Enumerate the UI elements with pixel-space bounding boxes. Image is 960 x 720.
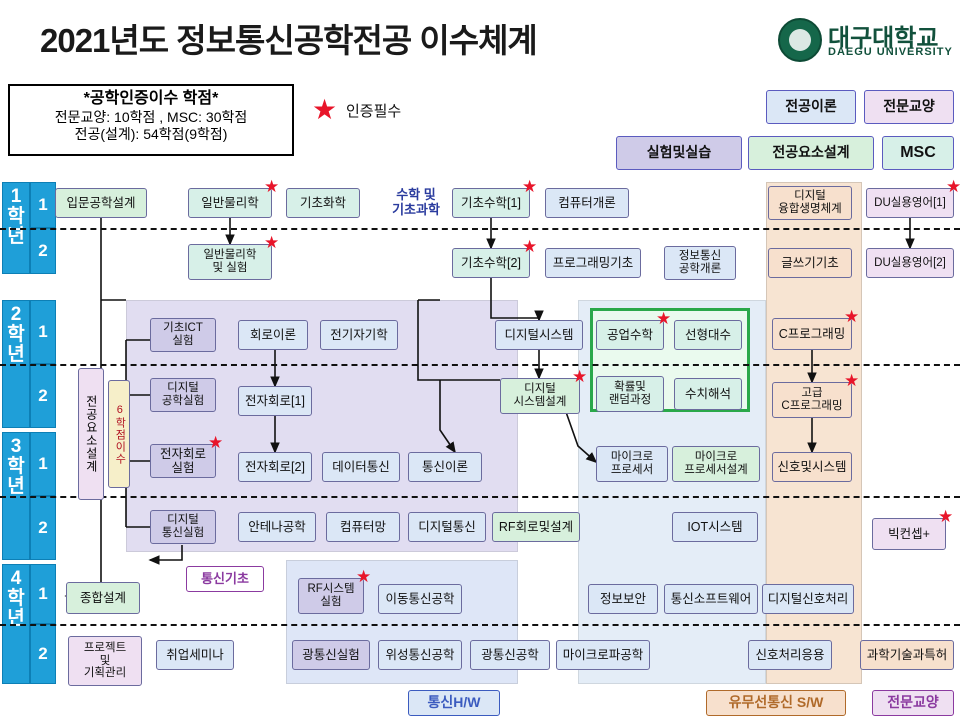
group-label-math-science: 수학 및 기초과학 bbox=[376, 186, 456, 220]
course-box[interactable]: RF시스템 실험 bbox=[298, 578, 364, 614]
course-box[interactable]: 신호및시스템 bbox=[772, 452, 852, 482]
row-divider-2 bbox=[0, 364, 960, 366]
course-box[interactable]: 프로젝트 및 기획관리 bbox=[68, 636, 142, 686]
semester-3-1: 1 bbox=[30, 432, 56, 496]
course-box[interactable]: 기초화학 bbox=[286, 188, 360, 218]
category-chip-liberal-arts[interactable]: 전문교양 bbox=[864, 90, 954, 124]
course-box[interactable]: RF회로및설계 bbox=[492, 512, 580, 542]
course-box[interactable]: 빅컨셉+ bbox=[872, 518, 946, 550]
university-logo: 대구대학교 DAEGU UNIVERSITY bbox=[778, 16, 954, 66]
course-box[interactable]: 고급 C프로그래밍 bbox=[772, 382, 852, 418]
course-box[interactable]: DU실용영어[1] bbox=[866, 188, 954, 218]
category-chip-major-element-design[interactable]: 전공요소설계 bbox=[748, 136, 874, 170]
course-box[interactable]: 확률및 랜덤과정 bbox=[596, 376, 664, 412]
course-box[interactable]: IOT시스템 bbox=[672, 512, 758, 542]
vlabel-major-element-design: 전공요소설계 bbox=[78, 368, 104, 500]
semester-2-2: 2 bbox=[30, 364, 56, 428]
row-divider-1 bbox=[0, 228, 960, 230]
course-box[interactable]: 디지털 통신실험 bbox=[150, 510, 216, 544]
semester-1-2: 2 bbox=[30, 228, 56, 274]
row-divider-4 bbox=[0, 624, 960, 626]
course-box[interactable]: 전자회로[1] bbox=[238, 386, 312, 416]
vlabel-6credits: 6학점이수 bbox=[108, 380, 130, 488]
course-box[interactable]: C프로그래밍 bbox=[772, 318, 852, 350]
footer-tag: 전문교양 bbox=[872, 690, 954, 716]
course-box[interactable]: 정보통신 공학개론 bbox=[664, 246, 736, 280]
course-box[interactable]: 수치해석 bbox=[674, 378, 742, 410]
group-label-comm-basic: 통신기초 bbox=[186, 566, 264, 592]
course-box[interactable]: 프로그래밍기초 bbox=[545, 248, 641, 278]
footer-tag: 유무선통신 S/W bbox=[706, 690, 846, 716]
semester-2-1: 1 bbox=[30, 300, 56, 364]
course-box[interactable]: 위성통신공학 bbox=[378, 640, 462, 670]
logo-text-english: DAEGU UNIVERSITY bbox=[828, 46, 953, 58]
cert-line-2: 전문교양: 10학점 , MSC: 30학점 bbox=[10, 109, 292, 126]
category-chip-msc[interactable]: MSC bbox=[882, 136, 954, 170]
university-seal-icon bbox=[778, 18, 822, 62]
course-box[interactable]: 광통신실험 bbox=[292, 640, 370, 670]
course-box[interactable]: 전자회로[2] bbox=[238, 452, 312, 482]
course-box[interactable]: 과학기술과특허 bbox=[860, 640, 954, 670]
star-icon: ★ bbox=[312, 96, 337, 124]
course-box[interactable]: 정보보안 bbox=[588, 584, 658, 614]
course-box[interactable]: 글쓰기기초 bbox=[768, 248, 852, 278]
course-box[interactable]: 기초수학[2] bbox=[452, 248, 530, 278]
footer-tag: 통신H/W bbox=[408, 690, 500, 716]
course-box[interactable]: 신호처리응용 bbox=[748, 640, 832, 670]
course-box[interactable]: 회로이론 bbox=[238, 320, 308, 350]
course-box[interactable]: 이동통신공학 bbox=[378, 584, 462, 614]
course-box[interactable]: 디지털시스템 bbox=[495, 320, 583, 350]
course-box[interactable]: 통신소프트웨어 bbox=[664, 584, 758, 614]
course-box[interactable]: 기초수학[1] bbox=[452, 188, 530, 218]
course-box[interactable]: DU실용영어[2] bbox=[866, 248, 954, 278]
course-box[interactable]: 마이크로파공학 bbox=[556, 640, 650, 670]
semester-4-1: 1 bbox=[30, 564, 56, 624]
course-box[interactable]: 디지털 융합생명체계 bbox=[768, 186, 852, 220]
course-box[interactable]: 디지털 시스템설계 bbox=[500, 378, 580, 414]
course-box[interactable]: 취업세미나 bbox=[156, 640, 234, 670]
semester-1-1: 1 bbox=[30, 182, 56, 228]
course-box[interactable]: 전자회로 실험 bbox=[150, 444, 216, 478]
page-title: 2021년도 정보통신공학전공 이수체계 bbox=[40, 14, 760, 62]
course-box[interactable]: 컴퓨터개론 bbox=[545, 188, 629, 218]
category-chip-major-theory[interactable]: 전공이론 bbox=[766, 90, 856, 124]
course-box[interactable]: 선형대수 bbox=[674, 320, 742, 350]
course-box[interactable]: 마이크로 프로세서 bbox=[596, 446, 668, 482]
course-box[interactable]: 데이터통신 bbox=[322, 452, 400, 482]
cert-title: *공학인증이수 학점* bbox=[10, 89, 292, 109]
semester-4-2: 2 bbox=[30, 624, 56, 684]
course-box[interactable]: 종합설계 bbox=[66, 582, 140, 614]
course-box[interactable]: 디지털통신 bbox=[408, 512, 486, 542]
cert-line-3: 전공(설계): 54학점(9학점) bbox=[10, 126, 292, 143]
course-box[interactable]: 마이크로 프로세서설계 bbox=[672, 446, 760, 482]
course-box[interactable]: 광통신공학 bbox=[470, 640, 550, 670]
course-box[interactable]: 안테나공학 bbox=[238, 512, 316, 542]
course-box[interactable]: 기초ICT 실험 bbox=[150, 318, 216, 352]
course-box[interactable]: 일반물리학 및 실험 bbox=[188, 244, 272, 280]
category-chip-lab-practice[interactable]: 실험및실습 bbox=[616, 136, 742, 170]
course-box[interactable]: 일반물리학 bbox=[188, 188, 272, 218]
course-box[interactable]: 전기자기학 bbox=[320, 320, 398, 350]
certification-credits-box: *공학인증이수 학점* 전문교양: 10학점 , MSC: 30학점 전공(설계… bbox=[8, 84, 294, 156]
legend-star-label: 인증필수 bbox=[346, 100, 401, 121]
semester-3-2: 2 bbox=[30, 496, 56, 560]
course-box[interactable]: 공업수학 bbox=[596, 320, 664, 350]
course-box[interactable]: 디지털 공학실험 bbox=[150, 378, 216, 412]
course-box[interactable]: 디지털신호처리 bbox=[762, 584, 854, 614]
course-box[interactable]: 입문공학설계 bbox=[55, 188, 147, 218]
diagram-canvas: 2021년도 정보통신공학전공 이수체계 대구대학교 DAEGU UNIVERS… bbox=[0, 0, 960, 720]
course-box[interactable]: 컴퓨터망 bbox=[326, 512, 400, 542]
row-divider-3 bbox=[0, 496, 960, 498]
course-box[interactable]: 통신이론 bbox=[408, 452, 482, 482]
